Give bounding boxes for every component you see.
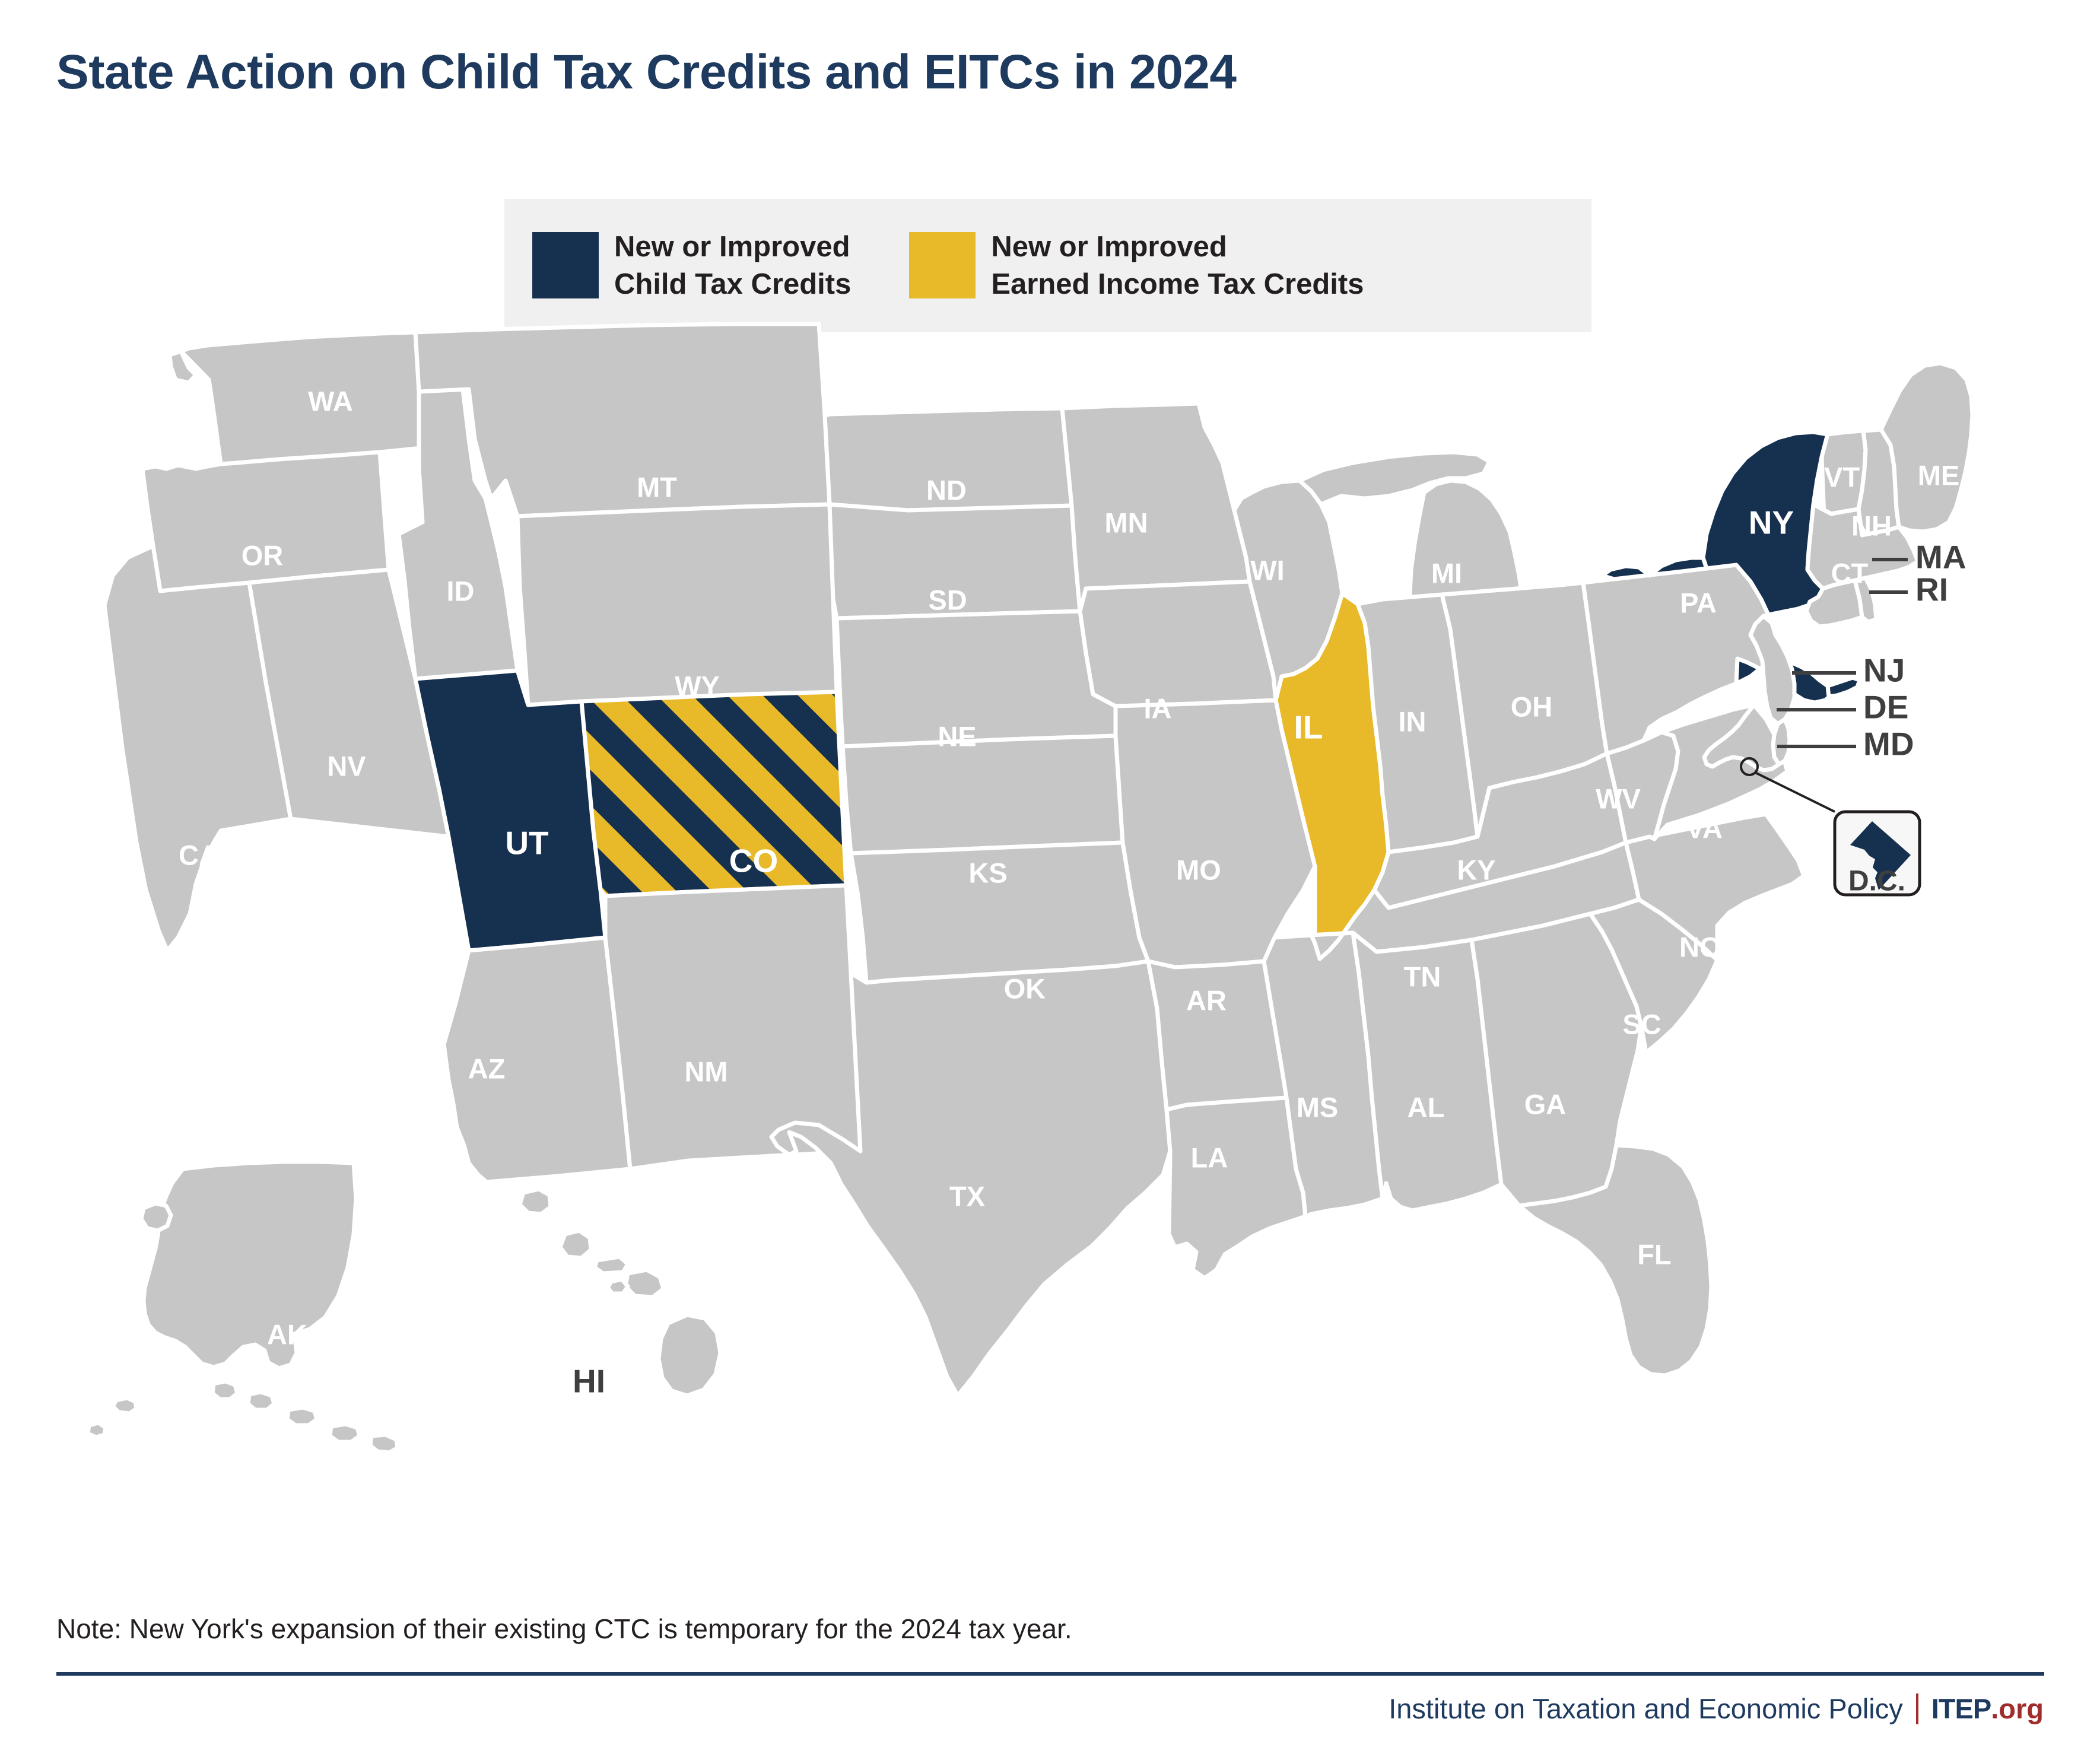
label-fl: FL: [1637, 1238, 1671, 1270]
brand-itep: ITEP: [1931, 1692, 1991, 1725]
footer-divider: [56, 1672, 2044, 1676]
legend-label-eitc-line2: Earned Income Tax Credits: [991, 266, 1364, 303]
label-ms: MS: [1297, 1091, 1339, 1123]
label-nm: NM: [684, 1056, 727, 1087]
state-mn[interactable]: [1062, 403, 1250, 611]
label-co: CO: [729, 843, 779, 879]
label-sc: SC: [1622, 1008, 1661, 1040]
label-ky: KY: [1457, 854, 1495, 885]
callout-label-ma: MA: [1915, 539, 1966, 576]
state-ak-aleutian-6[interactable]: [113, 1398, 136, 1413]
state-ut[interactable]: [415, 671, 605, 951]
legend-label-eitc: New or Improved Earned Income Tax Credit…: [991, 228, 1364, 303]
state-wa[interactable]: [181, 332, 421, 464]
legend-label-ctc-line2: Child Tax Credits: [614, 266, 851, 303]
label-oh: OH: [1511, 691, 1553, 722]
label-pa: PA: [1680, 587, 1717, 618]
label-va: VA: [1686, 812, 1723, 844]
label-mi: MI: [1431, 557, 1462, 589]
state-ny-longisland[interactable]: [1828, 678, 1860, 697]
state-hi-bigisland[interactable]: [659, 1315, 720, 1396]
label-in: IN: [1399, 706, 1427, 737]
us-choropleth-map: WA OR CA NV ID MT WY UT AZ CO NM ND SD N…: [0, 320, 2100, 1555]
label-hi: HI: [573, 1363, 605, 1400]
label-nc: NC: [1679, 931, 1720, 962]
state-ak-aleutian-4[interactable]: [330, 1424, 360, 1442]
state-ak-aleutian-2[interactable]: [248, 1392, 274, 1410]
state-hi-kauai[interactable]: [520, 1189, 551, 1214]
label-la: LA: [1191, 1142, 1228, 1173]
label-me: ME: [1918, 459, 1960, 491]
state-ak-aleutian-5[interactable]: [370, 1435, 398, 1453]
label-nd: ND: [926, 474, 967, 506]
leader-dc: [1755, 773, 1835, 812]
callout-label-md: MD: [1863, 726, 1914, 762]
label-ar: AR: [1186, 984, 1227, 1016]
label-mo: MO: [1176, 854, 1221, 885]
label-al: AL: [1408, 1091, 1445, 1123]
label-wv: WV: [1596, 783, 1641, 814]
label-ok: OK: [1004, 973, 1046, 1004]
label-sd: SD: [928, 584, 967, 615]
state-la[interactable]: [1167, 1098, 1305, 1278]
legend-label-eitc-line1: New or Improved: [991, 228, 1364, 266]
legend-item-eitc: New or Improved Earned Income Tax Credit…: [909, 228, 1364, 303]
legend-swatch-eitc: [909, 232, 976, 298]
label-nv: NV: [327, 750, 366, 781]
label-vt: VT: [1824, 461, 1860, 492]
state-ak-aleutian-1[interactable]: [212, 1381, 237, 1399]
state-ak-aleutian-7[interactable]: [88, 1423, 106, 1437]
legend-label-ctc: New or Improved Child Tax Credits: [614, 228, 851, 303]
label-ga: GA: [1524, 1088, 1567, 1120]
label-mn: MN: [1104, 507, 1148, 538]
label-id: ID: [447, 575, 475, 606]
label-nh: NH: [1851, 510, 1892, 541]
state-ia[interactable]: [1080, 582, 1276, 706]
legend: New or Improved Child Tax Credits New or…: [504, 199, 1591, 332]
label-tx: TX: [949, 1180, 985, 1212]
label-wi: WI: [1250, 554, 1284, 586]
label-ak: AK: [267, 1318, 307, 1350]
state-shapes: [88, 324, 1972, 1453]
label-ks: KS: [968, 857, 1007, 888]
label-mt: MT: [637, 471, 677, 503]
legend-item-ctc: New or Improved Child Tax Credits: [532, 228, 851, 303]
label-il: IL: [1294, 709, 1323, 746]
label-ct: CT: [1831, 557, 1869, 589]
legend-swatch-ctc: [532, 232, 599, 298]
label-wa: WA: [308, 385, 353, 417]
label-or: OR: [242, 539, 284, 571]
brand-dotorg: .org: [1991, 1692, 2044, 1725]
footnote: Note: New York's expansion of their exis…: [56, 1613, 1072, 1645]
callout-label-de: DE: [1863, 689, 1908, 726]
legend-label-ctc-line1: New or Improved: [614, 228, 851, 266]
label-ut: UT: [505, 825, 548, 862]
label-wy: WY: [675, 670, 720, 701]
state-hi-maui[interactable]: [625, 1270, 663, 1297]
credit-divider-bar: [1916, 1693, 1918, 1724]
callout-label-ri: RI: [1915, 571, 1948, 608]
label-ny: NY: [1749, 504, 1794, 541]
org-name: Institute on Taxation and Economic Polic…: [1389, 1692, 1903, 1725]
state-me[interactable]: [1881, 363, 1972, 532]
state-ak[interactable]: [144, 1162, 356, 1368]
state-co[interactable]: [582, 692, 846, 896]
page-title: State Action on Child Tax Credits and EI…: [56, 45, 1236, 100]
callout-label-nj: NJ: [1863, 652, 1905, 689]
state-hi-molokai[interactable]: [595, 1257, 628, 1273]
state-hi-oahu[interactable]: [560, 1231, 591, 1258]
footer-credit: Institute on Taxation and Economic Polic…: [1389, 1692, 2044, 1725]
label-ia: IA: [1144, 692, 1172, 724]
state-ak-aleutian-3[interactable]: [287, 1407, 317, 1425]
state-ak-west[interactable]: [141, 1203, 171, 1231]
label-az: AZ: [468, 1053, 506, 1084]
dc-label: D.C.: [1848, 866, 1905, 897]
label-ne: NE: [938, 720, 976, 752]
label-ca: CA: [179, 839, 219, 870]
state-hi-lanai[interactable]: [608, 1279, 628, 1294]
label-tn: TN: [1404, 961, 1441, 992]
state-ks[interactable]: [843, 736, 1123, 853]
